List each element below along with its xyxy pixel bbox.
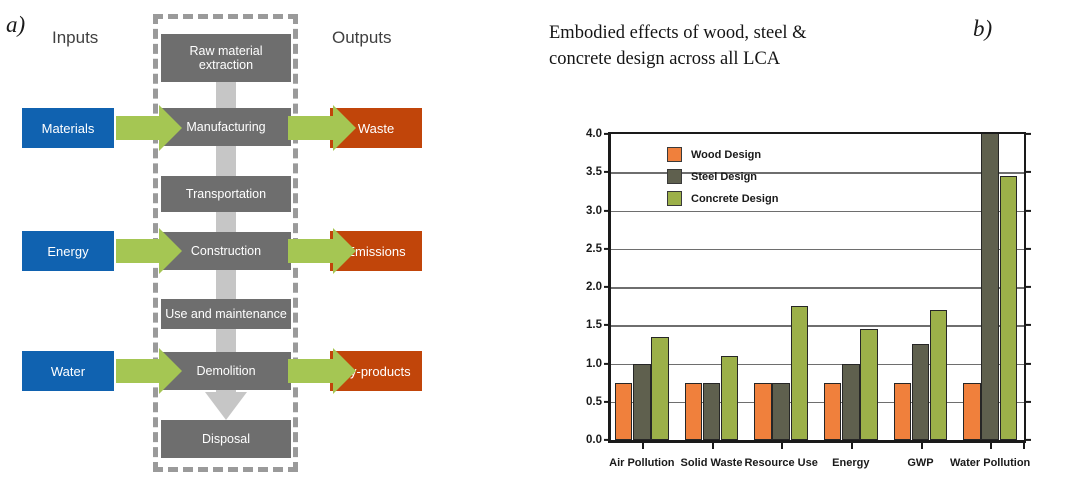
y-tick-label: 3.0 xyxy=(586,205,602,217)
bar-concrete-design-solid-waste xyxy=(721,356,739,440)
lca-flow-diagram-panel: a) Inputs Outputs Raw material extractio… xyxy=(0,0,470,486)
input-arrow-water-icon xyxy=(116,348,182,394)
y-tick-mark xyxy=(604,362,611,364)
lca-bar-chart-panel: b) Embodied effects of wood, steel & con… xyxy=(470,0,1066,486)
y-tick-mark-right xyxy=(1024,209,1031,211)
bar-wood-design-water-pollution xyxy=(963,383,981,440)
bar-steel-design-energy xyxy=(842,364,860,441)
input-arrow-energy-icon xyxy=(116,228,182,274)
x-tick-mark xyxy=(1023,440,1025,449)
legend-swatch xyxy=(667,147,682,162)
outputs-column-header: Outputs xyxy=(332,28,392,48)
y-tick-label: 0.5 xyxy=(586,396,602,408)
bar-steel-design-air-pollution xyxy=(633,364,651,441)
y-tick-label: 3.5 xyxy=(586,166,602,178)
gridline xyxy=(611,364,1024,366)
y-tick-mark xyxy=(604,324,611,326)
input-arrow-materials-icon xyxy=(116,105,182,151)
y-tick-label: 1.0 xyxy=(586,358,602,370)
bar-wood-design-resource-use xyxy=(754,383,772,440)
panel-a-letter: a) xyxy=(6,12,25,38)
y-tick-label: 0.0 xyxy=(586,434,602,446)
bar-concrete-design-energy xyxy=(860,329,878,440)
bar-steel-design-water-pollution xyxy=(981,134,999,440)
y-tick-mark xyxy=(604,133,611,135)
input-box-energy: Energy xyxy=(22,231,114,271)
x-category-label: GWP xyxy=(907,457,933,469)
chart-plot-area: 0.00.51.01.52.02.53.03.54.0 Air Pollutio… xyxy=(608,132,1026,443)
bar-concrete-design-air-pollution xyxy=(651,337,669,440)
process-box-raw-material-extraction: Raw material extraction xyxy=(161,34,291,82)
bar-wood-design-gwp xyxy=(894,383,912,440)
y-tick-mark-right xyxy=(1024,171,1031,173)
y-tick-mark xyxy=(604,209,611,211)
chart-title-line-2: concrete design across all LCA xyxy=(549,46,939,72)
y-tick-mark xyxy=(604,171,611,173)
process-box-use-and-maintenance: Use and maintenance xyxy=(161,299,291,329)
y-tick-mark xyxy=(604,286,611,288)
y-tick-mark-right xyxy=(1024,324,1031,326)
bar-concrete-design-resource-use xyxy=(791,306,809,440)
chart-title: Embodied effects of wood, steel & concre… xyxy=(549,20,939,72)
y-tick-label: 4.0 xyxy=(586,128,602,140)
y-tick-label: 2.5 xyxy=(586,243,602,255)
x-tick-mark xyxy=(642,440,644,449)
bar-concrete-design-water-pollution xyxy=(1000,176,1018,440)
x-category-label: Solid Waste xyxy=(681,457,743,469)
x-tick-mark xyxy=(921,440,923,449)
process-box-transportation: Transportation xyxy=(161,176,291,212)
y-tick-mark xyxy=(604,401,611,403)
y-tick-mark-right xyxy=(1024,286,1031,288)
x-category-label: Air Pollution xyxy=(609,457,674,469)
y-tick-mark xyxy=(604,248,611,250)
bar-steel-design-gwp xyxy=(912,344,930,440)
legend-item-steel-design: Steel Design xyxy=(667,169,778,184)
panel-b-letter: b) xyxy=(973,16,992,42)
y-tick-mark-right xyxy=(1024,401,1031,403)
gridline xyxy=(611,402,1024,404)
legend-label: Concrete Design xyxy=(691,193,778,205)
input-box-water: Water xyxy=(22,351,114,391)
bar-wood-design-air-pollution xyxy=(615,383,633,440)
bar-steel-design-resource-use xyxy=(772,383,790,440)
x-tick-mark xyxy=(781,440,783,449)
chart-legend: Wood DesignSteel DesignConcrete Design xyxy=(667,147,778,213)
bar-wood-design-energy xyxy=(824,383,842,440)
legend-swatch xyxy=(667,169,682,184)
y-tick-mark xyxy=(604,439,611,441)
process-box-disposal: Disposal xyxy=(161,420,291,458)
bar-wood-design-solid-waste xyxy=(685,383,703,440)
chart-title-line-1: Embodied effects of wood, steel & xyxy=(549,20,939,46)
output-arrow-emissions-icon xyxy=(288,228,356,274)
process-flow-arrowhead-icon xyxy=(205,392,247,420)
bar-steel-design-solid-waste xyxy=(703,383,721,440)
chart-plot-wrapper: Normalized to wood value = 0.75 0.00.51.… xyxy=(608,132,1026,443)
legend-swatch xyxy=(667,191,682,206)
x-tick-mark xyxy=(712,440,714,449)
y-tick-label: 2.0 xyxy=(586,281,602,293)
y-tick-label: 1.5 xyxy=(586,319,602,331)
output-arrow-by-products-icon xyxy=(288,348,356,394)
x-category-label: Energy xyxy=(832,457,869,469)
x-tick-mark xyxy=(851,440,853,449)
x-category-label: Water Pollution xyxy=(950,457,1030,469)
legend-label: Wood Design xyxy=(691,149,761,161)
gridline xyxy=(611,325,1024,327)
x-category-label: Resource Use xyxy=(744,457,817,469)
y-tick-mark-right xyxy=(1024,362,1031,364)
x-tick-mark xyxy=(990,440,992,449)
bar-concrete-design-gwp xyxy=(930,310,948,440)
gridline xyxy=(611,249,1024,251)
legend-item-wood-design: Wood Design xyxy=(667,147,778,162)
output-arrow-waste-icon xyxy=(288,105,356,151)
gridline xyxy=(611,287,1024,289)
y-tick-mark-right xyxy=(1024,133,1031,135)
legend-item-concrete-design: Concrete Design xyxy=(667,191,778,206)
inputs-column-header: Inputs xyxy=(52,28,98,48)
input-box-materials: Materials xyxy=(22,108,114,148)
y-tick-mark-right xyxy=(1024,248,1031,250)
legend-label: Steel Design xyxy=(691,171,757,183)
